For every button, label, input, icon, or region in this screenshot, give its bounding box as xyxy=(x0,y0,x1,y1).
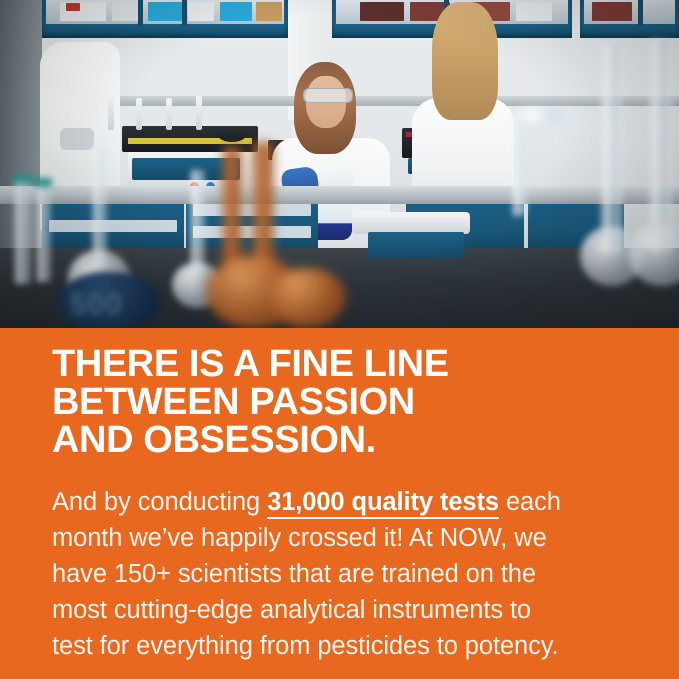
glass-stand-rod xyxy=(108,96,114,130)
blue-instrument-base xyxy=(368,232,464,258)
shelf-item xyxy=(148,2,182,21)
body-line-4: most cutting-edge analytical instruments… xyxy=(52,592,638,628)
shelf-item xyxy=(592,2,632,21)
overhead-cabinet-far-right xyxy=(580,0,679,38)
shelf-item xyxy=(516,2,552,21)
laboratory-photo: 500 xyxy=(0,0,679,328)
cabinet-mullion xyxy=(638,0,643,26)
advertisement-card: 500 xyxy=(0,0,679,679)
cabinet-drawer xyxy=(49,220,177,232)
technician-hand xyxy=(60,128,94,150)
overhead-cabinet-left xyxy=(42,0,288,38)
glass-stand-rod xyxy=(166,98,172,130)
body-line-5: test for everything from pesticides to p… xyxy=(52,628,638,664)
glass-stand-rod xyxy=(196,96,202,130)
shelf-item xyxy=(360,2,404,21)
white-tray xyxy=(352,212,470,234)
cylinder-cap xyxy=(12,174,32,183)
graduated-cylinder xyxy=(36,182,50,282)
instrument-cap xyxy=(218,128,246,142)
safety-goggles xyxy=(303,88,353,103)
amber-flask-bulb xyxy=(268,268,346,328)
glass-column xyxy=(600,44,622,254)
condenser-bend xyxy=(512,108,576,122)
cylinder-cap xyxy=(34,178,52,187)
body-line-1-pre: And by conducting xyxy=(52,488,267,516)
glass-stand-rod xyxy=(136,98,142,130)
glass-column xyxy=(648,40,672,252)
shelf-item xyxy=(66,3,80,11)
shelf-item xyxy=(256,2,282,21)
body-line-2: month we’ve happily crossed it! At NOW, … xyxy=(52,520,638,556)
cabinet-mullion xyxy=(182,0,187,26)
shelf-item xyxy=(188,2,214,21)
photo-scene: 500 xyxy=(0,0,679,328)
cabinet-mullion xyxy=(138,0,143,26)
headline-line-1: THERE IS A FINE LINE xyxy=(52,345,652,383)
shelf-item xyxy=(220,2,252,21)
body-copy: And by conducting 31,000 quality tests e… xyxy=(52,484,638,664)
blue-flask-500: 500 xyxy=(58,272,160,328)
condenser-tube xyxy=(512,112,526,216)
body-line-1-post: each xyxy=(499,488,561,516)
body-line-3: have 150+ scientists that are trained on… xyxy=(52,556,638,592)
amber-flask-neck xyxy=(222,146,242,276)
base-cabinet xyxy=(42,196,184,252)
orange-message-panel: THERE IS A FINE LINE BETWEEN PASSION AND… xyxy=(0,328,679,679)
highlight-stat: 31,000 quality tests xyxy=(267,488,499,519)
headline-line-2: BETWEEN PASSION xyxy=(52,383,652,421)
page-title: THERE IS A FINE LINE BETWEEN PASSION AND… xyxy=(52,345,652,459)
headline-line-3: AND OBSESSION. xyxy=(52,421,652,459)
scientist-blonde-hair xyxy=(432,2,498,120)
graduated-cylinder xyxy=(190,170,204,274)
body-line-1: And by conducting 31,000 quality tests e… xyxy=(52,484,638,520)
flask-volume-label: 500 xyxy=(70,288,123,322)
graduated-cylinder xyxy=(14,178,30,284)
